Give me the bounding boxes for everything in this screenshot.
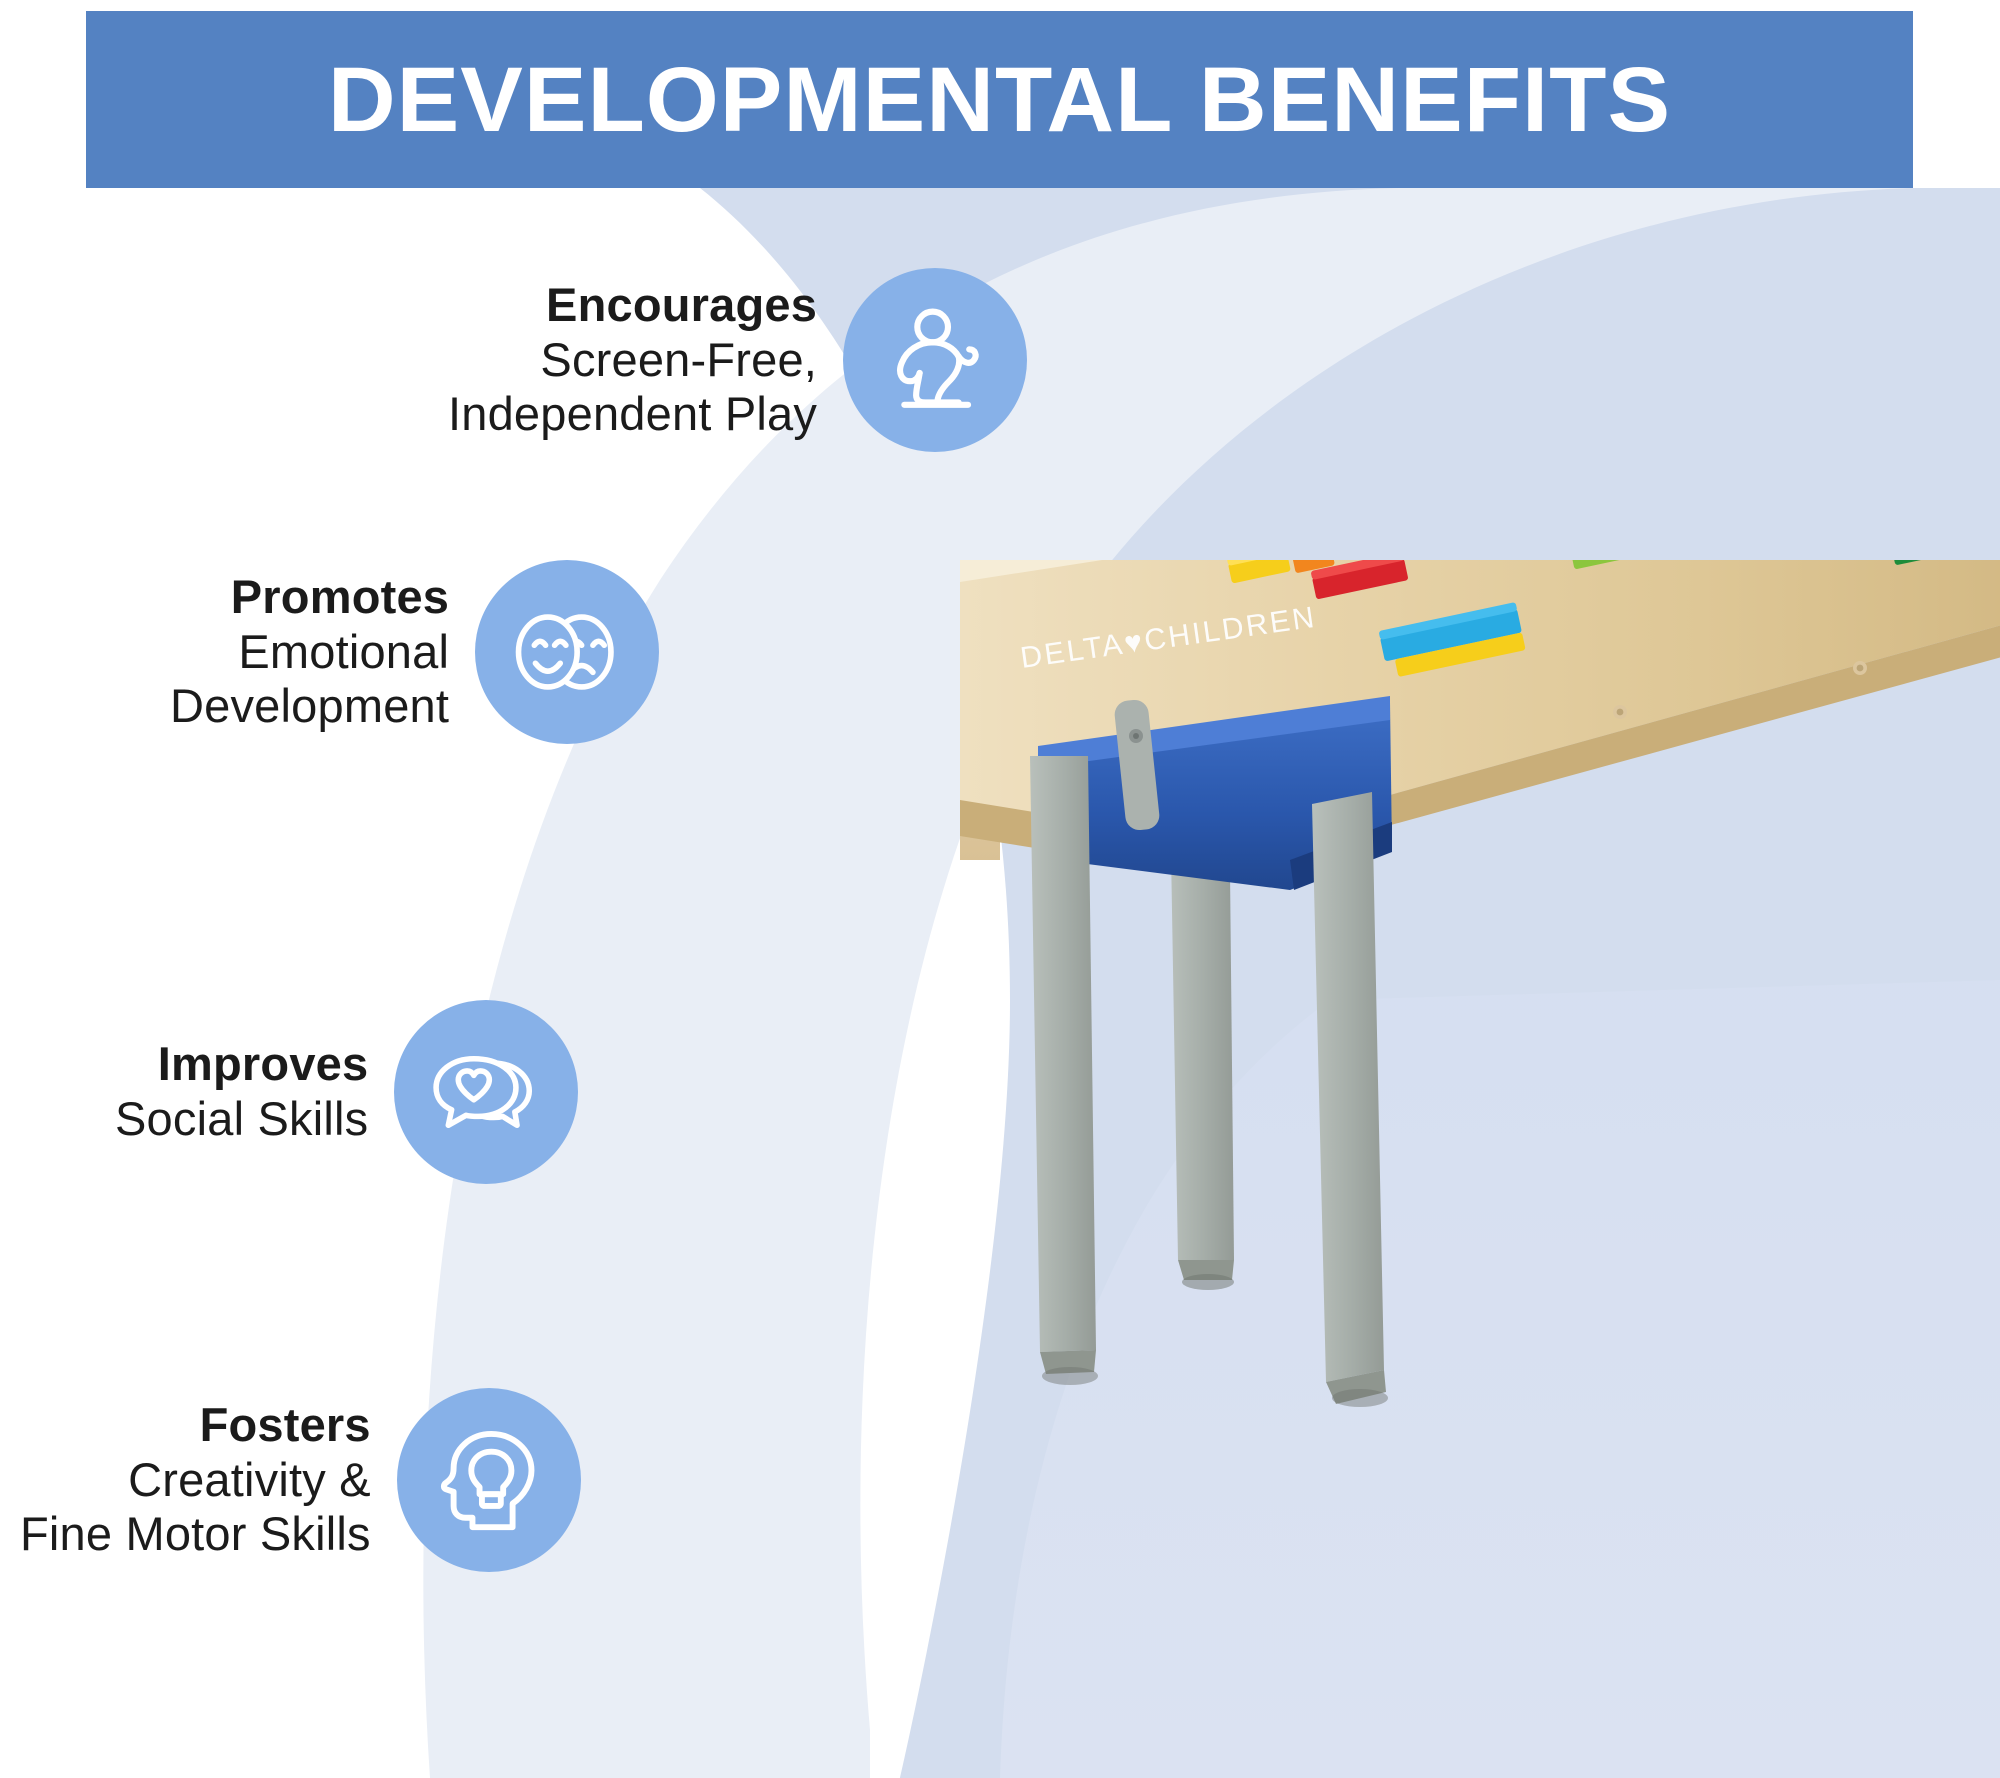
benefit-subline-2: Fine Motor Skills	[20, 1507, 371, 1562]
benefit-text-block: Encourages Screen-Free, Independent Play	[448, 278, 817, 442]
benefit-subline-1: Creativity &	[20, 1453, 371, 1508]
table-leg-front	[1030, 756, 1098, 1385]
benefit-subline-1: Emotional	[170, 625, 449, 680]
benefit-subline-1: Screen-Free,	[448, 333, 817, 388]
benefit-heading: Improves	[115, 1037, 368, 1092]
happy-sad-faces-icon	[505, 590, 629, 714]
benefit-icon-wrapper	[397, 1388, 581, 1572]
header-banner: DEVELOPMENTAL BENEFITS	[86, 11, 1913, 188]
benefit-text-block: Improves Social Skills	[115, 1037, 368, 1146]
benefit-item-fosters[interactable]: Fosters Creativity & Fine Motor Skills	[20, 1388, 581, 1572]
benefit-item-encourages[interactable]: Encourages Screen-Free, Independent Play	[448, 268, 1027, 452]
speech-bubbles-heart-icon	[425, 1031, 547, 1153]
benefit-heading: Promotes	[170, 570, 449, 625]
benefit-icon-wrapper	[394, 1000, 578, 1184]
benefit-heading: Encourages	[448, 278, 817, 333]
benefit-subline-2: Independent Play	[448, 387, 817, 442]
benefit-icon-wrapper	[843, 268, 1027, 452]
benefit-heading: Fosters	[20, 1398, 371, 1453]
benefit-subline-2: Development	[170, 679, 449, 734]
crawling-child-icon	[876, 301, 994, 419]
benefit-item-promotes[interactable]: Promotes Emotional Development	[170, 560, 659, 744]
page-title: DEVELOPMENTAL BENEFITS	[328, 54, 1671, 146]
benefit-text-block: Promotes Emotional Development	[170, 570, 449, 734]
table-leg-right	[1312, 792, 1388, 1407]
infographic-canvas: DEVELOPMENTAL BENEFITS DELTA♥CHILDREN	[0, 0, 2000, 1778]
benefit-text-block: Fosters Creativity & Fine Motor Skills	[20, 1398, 371, 1562]
benefit-subline-1: Social Skills	[115, 1092, 368, 1147]
benefit-item-improves[interactable]: Improves Social Skills	[115, 1000, 578, 1184]
head-lightbulb-icon	[430, 1421, 548, 1539]
benefit-icon-wrapper	[475, 560, 659, 744]
product-illustration: DELTA♥CHILDREN	[960, 560, 2000, 1778]
